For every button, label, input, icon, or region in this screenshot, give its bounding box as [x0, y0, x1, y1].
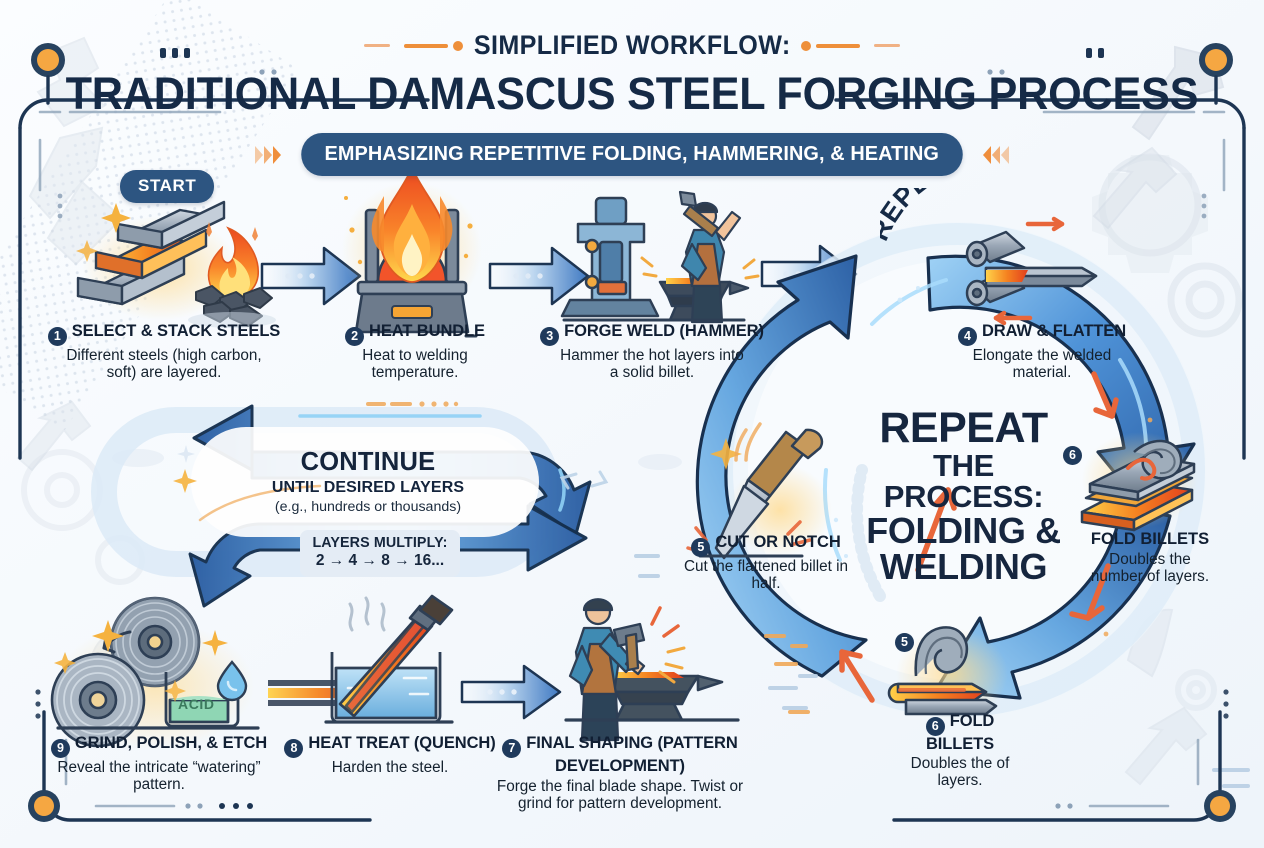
step-6-bottom-number: 6: [926, 717, 945, 736]
step-3-title: 3FORGE WELD (HAMMER): [510, 322, 794, 345]
svg-text:REPETITION: REPETITION: [880, 188, 1021, 245]
step-2-number: 2: [345, 327, 364, 346]
acid-tank-label: ACID: [178, 696, 215, 712]
step-7-title: 7FINAL SHAPING (PATTERN DEVELOPMENT): [470, 734, 770, 776]
step-9-number: 9: [51, 739, 70, 758]
kicker-row: SIMPLIFIED WORKFLOW:: [0, 30, 1264, 61]
step-7-number: 7: [502, 739, 521, 758]
step-8-title: 8HEAT TREAT (QUENCH): [278, 734, 502, 757]
step-4-number: 4: [958, 327, 977, 346]
step-7-desc: Forge the final blade shape. Twist or gr…: [470, 778, 770, 813]
step-5-cycle-number-badge: 5: [895, 630, 919, 652]
repeat-line-4: WELDING: [856, 549, 1071, 585]
step-6-bottom-desc: Doubles the of layers.: [892, 755, 1028, 790]
step-4-label: 4DRAW & FLATTEN Elongate the welded mate…: [930, 322, 1154, 381]
step-1-title: 1SELECT & STACK STEELS: [24, 322, 304, 345]
step-9-label: 9GRIND, POLISH, & ETCH Reveal the intric…: [40, 734, 278, 793]
layers-multiply-sequence: 2 → 4 → 8 → 16...: [308, 552, 452, 570]
layers-multiply-box: LAYERS MULTIPLY: 2 → 4 → 8 → 16...: [300, 530, 460, 577]
step-8-label: 8HEAT TREAT (QUENCH) Harden the steel.: [278, 734, 502, 776]
header-kicker: SIMPLIFIED WORKFLOW:: [474, 30, 791, 61]
step-8-desc: Harden the steel.: [278, 759, 502, 776]
step-2-label: 2HEAT BUNDLE Heat to welding temperature…: [300, 322, 530, 381]
step-5-title: 5CUT OR NOTCH: [672, 533, 860, 556]
page-title: TRADITIONAL DAMASCUS STEEL FORGING PROCE…: [25, 71, 1238, 116]
step-1-label: 1SELECT & STACK STEELS Different steels …: [24, 322, 304, 381]
step-5-cycle-number: 5: [895, 633, 914, 652]
step-5-desc: Cut the flattened billet in half.: [672, 558, 860, 593]
step-1-number: 1: [48, 327, 67, 346]
step-4-desc: Elongate the welded material.: [930, 347, 1154, 382]
step-9-title: 9GRIND, POLISH, & ETCH: [40, 734, 278, 757]
kicker-tail-left: [364, 44, 390, 47]
step-5-number: 5: [691, 538, 710, 557]
kicker-tail-right: [874, 44, 900, 47]
continue-subheading: UNTIL DESIRED LAYERS: [243, 479, 493, 497]
step-6-right-number-badge: 6: [1063, 443, 1087, 465]
header-subtitle-banner: EMPHASIZING REPETITIVE FOLDING, HAMMERIN…: [301, 133, 962, 176]
continue-note: (e.g., hundreds or thousands): [243, 499, 493, 515]
chevrons-left-icon: [255, 146, 281, 164]
repeat-line-3: FOLDING &: [856, 513, 1071, 549]
step-1-desc: Different steels (high carbon, soft) are…: [24, 347, 304, 382]
step-3-label: 3FORGE WELD (HAMMER) Hammer the hot laye…: [510, 322, 794, 381]
repeat-line-1: REPEAT: [856, 408, 1071, 450]
infographic-header: SIMPLIFIED WORKFLOW: TRADITIONAL DAMASCU…: [0, 0, 1264, 176]
step-5-label: 5CUT OR NOTCH Cut the flattened billet i…: [672, 533, 860, 592]
step-6-right-desc: Doubles the number of layers.: [1085, 551, 1215, 586]
step-7-label: 7FINAL SHAPING (PATTERN DEVELOPMENT) For…: [470, 734, 770, 812]
step-6-bottom-title: 6FOLD BILLETS: [892, 712, 1028, 753]
step-8-number: 8: [284, 739, 303, 758]
kicker-dash-left: [404, 44, 448, 48]
step-3-number: 3: [540, 327, 559, 346]
repetition-label: REPETITION: [880, 188, 1110, 258]
step-9-desc: Reveal the intricate “watering” pattern.: [40, 759, 278, 794]
repeat-process-callout: REPEAT THE PROCESS: FOLDING & WELDING: [856, 408, 1071, 585]
step-3-desc: Hammer the hot layers into a solid bille…: [510, 347, 794, 382]
step-6-right-label: FOLD BILLETS Doubles the number of layer…: [1085, 530, 1215, 586]
step-4-title: 4DRAW & FLATTEN: [930, 322, 1154, 345]
kicker-dash-right: [816, 44, 860, 48]
step-6-right-number: 6: [1063, 446, 1082, 465]
step-6-right-title: FOLD BILLETS: [1085, 530, 1215, 549]
continue-loop-callout: CONTINUE UNTIL DESIRED LAYERS (e.g., hun…: [243, 450, 493, 515]
repeat-line-2: THE PROCESS:: [856, 450, 1071, 513]
start-badge: START: [120, 170, 214, 203]
infographic-canvas: SIMPLIFIED WORKFLOW: TRADITIONAL DAMASCU…: [0, 0, 1264, 848]
continue-heading: CONTINUE: [243, 450, 493, 476]
chevrons-right-icon: [983, 146, 1009, 164]
step-2-desc: Heat to welding temperature.: [300, 347, 530, 382]
step-6-bottom-label: 6FOLD BILLETS Doubles the of layers.: [892, 712, 1028, 790]
layers-multiply-label: LAYERS MULTIPLY:: [308, 535, 452, 551]
step-2-title: 2HEAT BUNDLE: [300, 322, 530, 345]
